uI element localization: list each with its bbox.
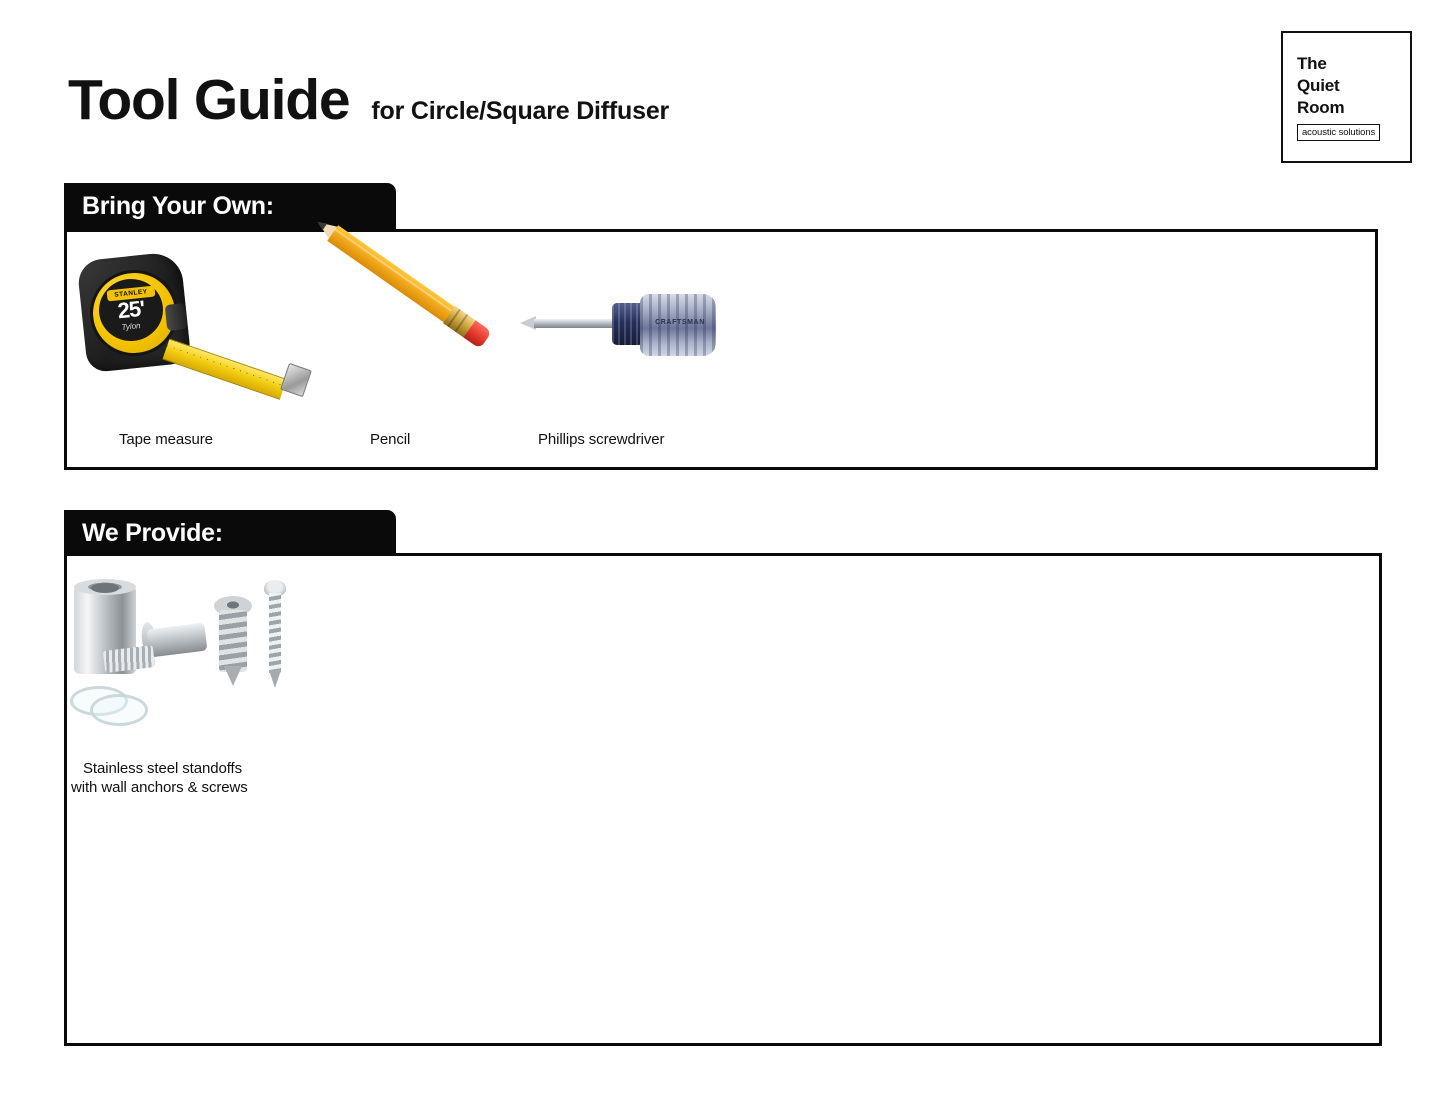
brand-logo-line-3: Room	[1297, 97, 1380, 119]
brand-logo-line-1: The	[1297, 53, 1380, 75]
standoff-cap-screw	[147, 623, 208, 658]
mounting-screw-tip	[269, 670, 281, 688]
tool-guide-page: Tool Guide for Circle/Square Diffuser Th…	[0, 0, 1445, 1117]
tape-measure-icon: STANLEY 25' Tylon	[78, 252, 278, 400]
brand-logo-line-2: Quiet	[1297, 75, 1380, 97]
screwdriver-brand-label: CRAFTSMAN	[648, 319, 712, 326]
hardware-caption-line-2: with wall anchors & screws	[71, 779, 248, 798]
wall-anchor	[214, 596, 252, 688]
pencil-icon	[296, 262, 496, 392]
clear-washer	[90, 694, 148, 726]
tape-measure-lock-knob	[165, 303, 188, 331]
standoff-threaded-pin	[103, 645, 155, 673]
standoff-hardware-icon	[68, 570, 284, 732]
mounting-screw-threads	[269, 593, 281, 673]
screwdriver-icon: CRAFTSMAN	[520, 286, 720, 366]
tool-label-pencil: Pencil	[370, 431, 410, 448]
tape-measure-blade	[162, 339, 286, 400]
tool-label-tape-measure: Tape measure	[119, 431, 213, 448]
wall-anchor-threads	[219, 610, 247, 672]
page-title: Tool Guide	[68, 72, 349, 129]
section-tab-we-provide: We Provide:	[64, 510, 396, 556]
mounting-screw	[264, 580, 286, 690]
screwdriver-shaft	[534, 319, 618, 328]
hardware-caption-line-1: Stainless steel standoffs	[83, 760, 242, 779]
tool-label-screwdriver: Phillips screwdriver	[538, 431, 664, 448]
section-tab-label: We Provide:	[82, 519, 223, 548]
brand-logo-tagline: acoustic solutions	[1297, 124, 1380, 141]
brand-logo: The Quiet Room acoustic solutions	[1281, 31, 1412, 163]
wall-anchor-tip	[224, 666, 242, 686]
page-subtitle: for Circle/Square Diffuser	[371, 97, 669, 126]
brand-logo-inner: The Quiet Room acoustic solutions	[1297, 53, 1380, 141]
page-header: Tool Guide for Circle/Square Diffuser	[68, 72, 669, 129]
section-tab-label: Bring Your Own:	[82, 192, 274, 221]
